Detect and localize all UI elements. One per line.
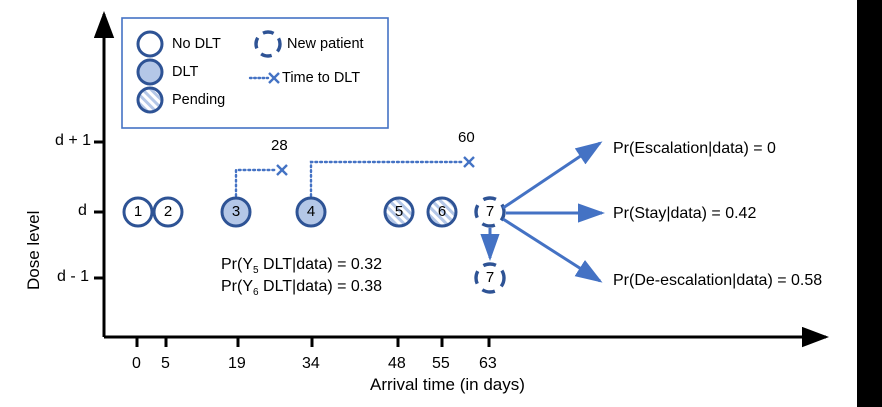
legend-label-pending: Pending [172, 92, 225, 108]
x-tick-label-63: 63 [479, 355, 497, 373]
patient-label-7-dose-d: 7 [483, 203, 497, 220]
prob-stay: Pr(Stay|data) = 0.42 [613, 205, 756, 223]
x-axis-title: Arrival time (in days) [370, 375, 525, 395]
right-edge-band [857, 0, 882, 407]
legend-label-no-dlt: No DLT [172, 36, 221, 52]
patient-label-7-dose-dminus1: 7 [483, 269, 497, 286]
x-axis [104, 337, 826, 347]
arrow-deescalation [503, 219, 600, 281]
prob-y5-suffix: DLT|data) = 0.32 [259, 256, 382, 273]
figure-canvas: 1 2 3 4 5 6 7 7 28 60 Dose level d + 1 d… [0, 0, 882, 407]
prob-y6-dlt: Pr(Y6 DLT|data) = 0.38 [221, 278, 382, 298]
prob-y5-prefix: Pr(Y [221, 256, 253, 273]
y-tick-label-dplus1: d + 1 [55, 132, 91, 150]
x-tick-label-0: 0 [132, 355, 141, 373]
arrow-escalation [503, 143, 600, 208]
legend-label-time-to-dlt: Time to DLT [282, 70, 360, 86]
x-tick-label-34: 34 [302, 355, 320, 373]
patient-label-4: 4 [304, 203, 318, 220]
patient-label-3: 3 [229, 203, 243, 220]
time-to-dlt-value-p4: 60 [458, 129, 475, 146]
y-axis-title: Dose level [24, 211, 44, 290]
circle-hatched-icon [138, 88, 162, 112]
time-to-dlt-path-p4 [311, 157, 474, 196]
patient-label-2: 2 [161, 203, 175, 220]
patient-label-5: 5 [392, 203, 406, 220]
patient-label-6: 6 [435, 203, 449, 220]
x-tick-label-48: 48 [388, 355, 406, 373]
x-tick-label-55: 55 [432, 355, 450, 373]
prob-y6-prefix: Pr(Y [221, 278, 253, 295]
prob-y6-suffix: DLT|data) = 0.38 [259, 278, 382, 295]
y-axis [94, 14, 104, 337]
y-tick-label-dminus1: d - 1 [57, 268, 89, 286]
patient-label-1: 1 [131, 203, 145, 220]
prob-y5-dlt: Pr(Y5 DLT|data) = 0.32 [221, 256, 382, 276]
legend-label-new-patient: New patient [287, 36, 364, 52]
prob-deescalation: Pr(De-escalation|data) = 0.58 [613, 272, 822, 290]
prob-escalation: Pr(Escalation|data) = 0 [613, 140, 776, 158]
circle-filled-icon [138, 60, 162, 84]
time-to-dlt-value-p3: 28 [271, 137, 288, 154]
circle-outline-icon [138, 32, 162, 56]
legend-label-dlt: DLT [172, 64, 198, 80]
y-tick-label-d: d [78, 202, 87, 220]
time-to-dlt-path-p3 [236, 165, 287, 196]
x-tick-label-5: 5 [161, 355, 170, 373]
x-tick-label-19: 19 [228, 355, 246, 373]
